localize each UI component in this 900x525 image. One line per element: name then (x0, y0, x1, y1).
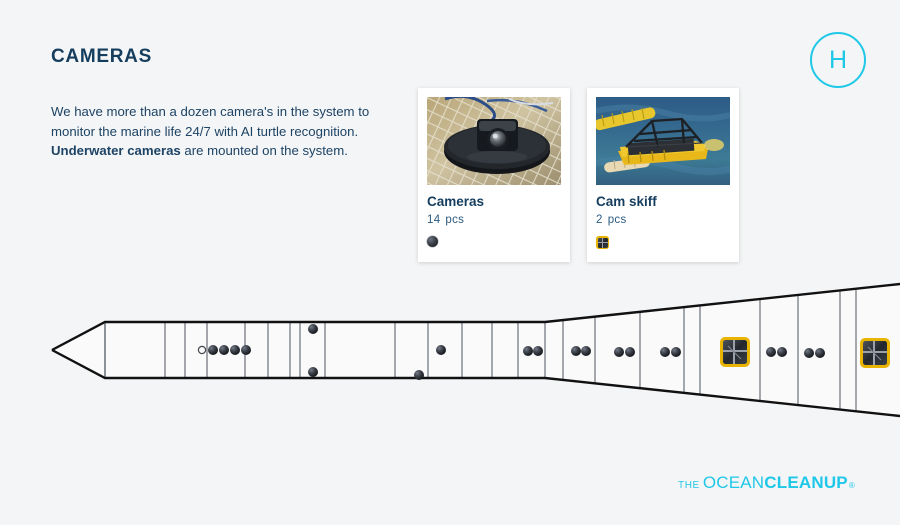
logo-the: THE (678, 480, 700, 491)
camera-dot-icon (427, 236, 440, 249)
card-count-unit: pcs (608, 214, 627, 226)
card-count-value: 2 (596, 214, 603, 226)
logo-registered-mark: ® (849, 481, 855, 490)
camera-dot-marker (581, 346, 591, 356)
card-count-value: 14 (427, 214, 440, 226)
intro-text-part1: We have more than a dozen camera's in th… (51, 104, 369, 139)
page-root: CAMERAS We have more than a dozen camera… (0, 0, 900, 525)
camera-dot-marker (625, 347, 635, 357)
card-title: Cam skiff (596, 194, 657, 209)
h-badge-label: H (829, 46, 847, 75)
camera-dot-marker (815, 348, 825, 358)
camera-hollow-marker (198, 346, 205, 353)
camera-dot-marker (614, 347, 624, 357)
ocean-cleanup-logo: THEOCEANCLEANUP® (678, 473, 855, 493)
intro-text-part2: are mounted on the system. (181, 143, 348, 158)
intro-text-bold: Underwater cameras (51, 143, 181, 158)
camera-dot-marker (241, 345, 251, 355)
card-cam-skiff[interactable]: Cam skiff 2pcs (587, 88, 739, 262)
card-count: 14pcs (427, 214, 464, 226)
camera-dot-marker (308, 367, 318, 377)
card-count-unit: pcs (445, 214, 464, 226)
camera-dot-marker (230, 345, 240, 355)
camera-dot-marker (219, 345, 229, 355)
camera-dot-marker (804, 348, 814, 358)
camera-dot-marker (308, 324, 318, 334)
card-count: 2pcs (596, 214, 627, 226)
camera-dot-marker (766, 347, 776, 357)
camera-dot-marker (208, 345, 218, 355)
card-cameras[interactable]: Cameras 14pcs (418, 88, 570, 262)
page-title: CAMERAS (51, 46, 152, 68)
intro-paragraph: We have more than a dozen camera's in th… (51, 102, 381, 161)
underwater-camera-photo (427, 97, 561, 185)
h-badge-icon: H (810, 32, 866, 88)
camera-dot-marker (414, 370, 424, 380)
system-cross-section-diagram (0, 265, 900, 430)
cam-skiff-icon (596, 236, 609, 249)
card-title: Cameras (427, 194, 484, 209)
cam-skiff-photo (596, 97, 730, 185)
logo-ocean: OCEAN (703, 473, 764, 493)
camera-dot-marker (671, 347, 681, 357)
camera-dot-marker (777, 347, 787, 357)
camera-dot-marker (523, 346, 533, 356)
camera-dot-marker (533, 346, 543, 356)
logo-cleanup: CLEANUP (764, 473, 848, 493)
camera-dot-marker (436, 345, 446, 355)
camera-dot-marker (571, 346, 581, 356)
camera-dot-marker (660, 347, 670, 357)
